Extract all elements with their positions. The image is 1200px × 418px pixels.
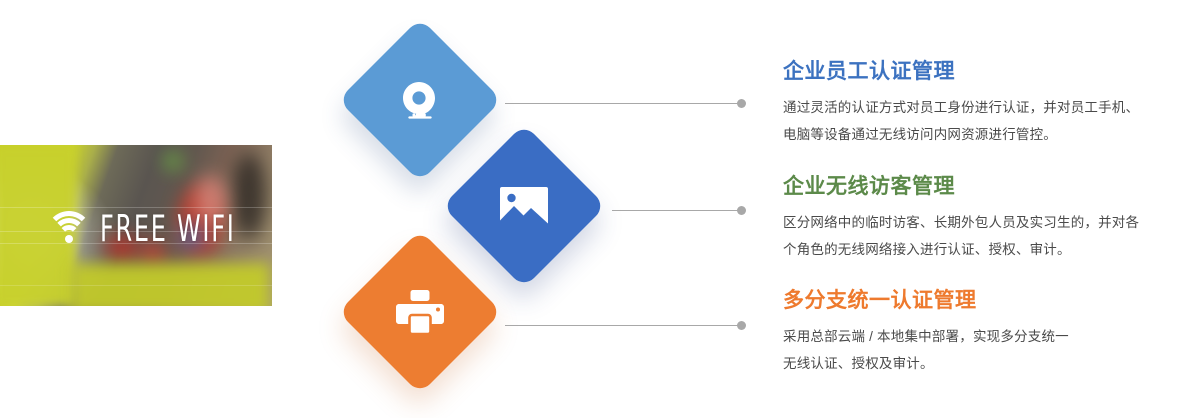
connector-dot-1 (737, 99, 746, 108)
feature-item-1: 企业员工认证管理 通过灵活的认证方式对员工身份进行认证，并对员工手机、 电脑等设… (783, 60, 1193, 148)
photo-blob-green (165, 153, 181, 169)
connector-line-1 (505, 103, 741, 104)
connector-line-3 (505, 325, 741, 326)
feature-item-2: 企业无线访客管理 区分网络中的临时访客、长期外包人员及实习生的，并对各 个角色的… (783, 175, 1193, 263)
feature-item-3: 多分支统一认证管理 采用总部云端 / 本地集中部署，实现多分支统一 无线认证、授… (783, 289, 1193, 377)
feature-description-2: 区分网络中的临时访客、长期外包人员及实习生的，并对各 个角色的无线网络接入进行认… (783, 209, 1193, 263)
connector-line-2 (612, 210, 741, 211)
feature-desc-line: 个角色的无线网络接入进行认证、授权、审计。 (783, 242, 1071, 257)
node-printer[interactable] (338, 230, 502, 394)
node-image[interactable] (442, 124, 606, 288)
webcam-icon (396, 76, 444, 124)
node-webcam[interactable] (338, 18, 502, 182)
feature-desc-line: 采用总部云端 / 本地集中部署，实现多分支统一 (783, 329, 1069, 344)
feature-desc-line: 无线认证、授权及审计。 (783, 356, 934, 371)
feature-description-1: 通过灵活的认证方式对员工身份进行认证，并对员工手机、 电脑等设备通过无线访问内网… (783, 94, 1193, 148)
connector-dot-3 (737, 321, 746, 330)
image-icon (499, 186, 549, 226)
photo-blob-dark (232, 153, 266, 239)
feature-title-2: 企业无线访客管理 (783, 175, 1193, 198)
connector-dot-2 (737, 206, 746, 215)
feature-desc-line: 区分网络中的临时访客、长期外包人员及实习生的，并对各 (783, 215, 1139, 230)
photo-glass-streak (0, 285, 272, 286)
free-wifi-label: FREE WIFI (100, 208, 236, 250)
feature-desc-line: 电脑等设备通过无线访问内网资源进行管控。 (783, 127, 1057, 142)
feature-description-3: 采用总部云端 / 本地集中部署，实现多分支统一 无线认证、授权及审计。 (783, 323, 1193, 377)
feature-title-3: 多分支统一认证管理 (783, 289, 1193, 312)
wifi-icon (50, 211, 88, 245)
wifi-dot (65, 235, 73, 243)
printer-icon (395, 289, 445, 335)
free-wifi-photo: FREE WIFI (0, 145, 272, 306)
feature-desc-line: 通过灵活的认证方式对员工身份进行认证，并对员工手机、 (783, 100, 1139, 115)
feature-title-1: 企业员工认证管理 (783, 60, 1193, 83)
